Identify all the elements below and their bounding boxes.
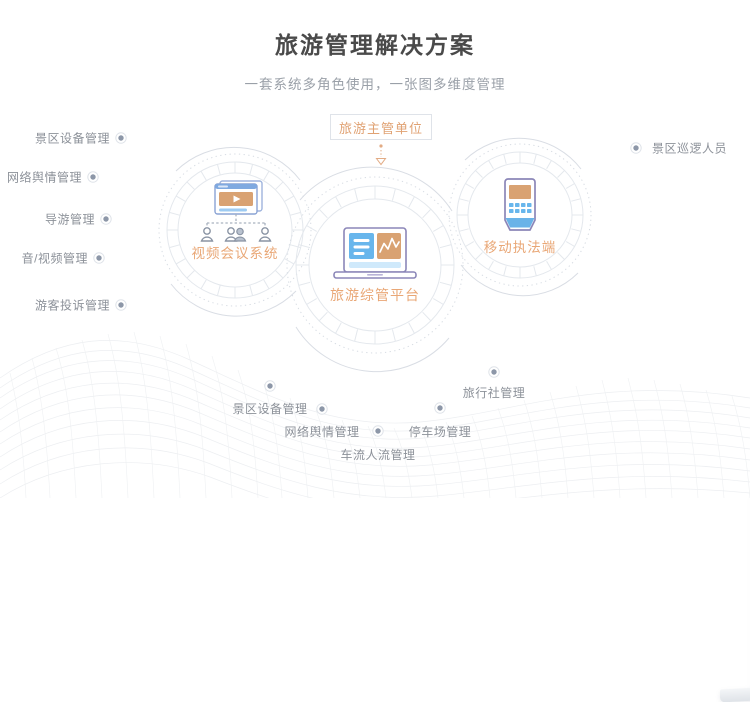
video-conference-icon bbox=[192, 178, 278, 249]
left-label-0[interactable]: 景区设备管理 bbox=[35, 130, 110, 147]
page-subtitle: 一套系统多角色使用，一张图多维度管理 bbox=[0, 60, 750, 93]
node-label-video-conference: 视频会议系统 bbox=[192, 242, 279, 262]
laptop-base bbox=[720, 679, 750, 702]
handheld-device-icon bbox=[498, 178, 542, 245]
page-title: 旅游管理解决方案 bbox=[0, 0, 750, 60]
left-label-2[interactable]: 导游管理 bbox=[45, 211, 95, 228]
bottom-label-0[interactable]: 景区设备管理 bbox=[232, 400, 307, 417]
authority-label: 旅游主管单位 bbox=[339, 118, 423, 137]
bottom-label-2[interactable]: 车流人流管理 bbox=[340, 446, 415, 463]
laptop-dashboard-icon bbox=[331, 226, 419, 291]
node-label-tourism-platform: 旅游综管平台 bbox=[330, 285, 420, 305]
bottom-label-3[interactable]: 停车场管理 bbox=[409, 423, 472, 440]
right-label-0[interactable]: 景区巡逻人员 bbox=[652, 140, 727, 157]
left-label-3[interactable]: 音/视频管理 bbox=[22, 250, 88, 267]
left-label-4[interactable]: 游客投诉管理 bbox=[35, 297, 110, 314]
authority-connector bbox=[377, 144, 386, 164]
bottom-label-4[interactable]: 旅行社管理 bbox=[463, 384, 526, 401]
solution-diagram-page: 旅游管理解决方案 一套系统多角色使用，一张图多维度管理 bbox=[0, 0, 750, 498]
node-label-mobile-enforcement: 移动执法端 bbox=[484, 236, 557, 256]
bottom-label-1[interactable]: 网络舆情管理 bbox=[284, 423, 359, 440]
left-label-1[interactable]: 网络舆情管理 bbox=[7, 169, 82, 186]
page-header: 旅游管理解决方案 一套系统多角色使用，一张图多维度管理 bbox=[0, 0, 750, 93]
authority-box[interactable]: 旅游主管单位 bbox=[330, 114, 432, 140]
